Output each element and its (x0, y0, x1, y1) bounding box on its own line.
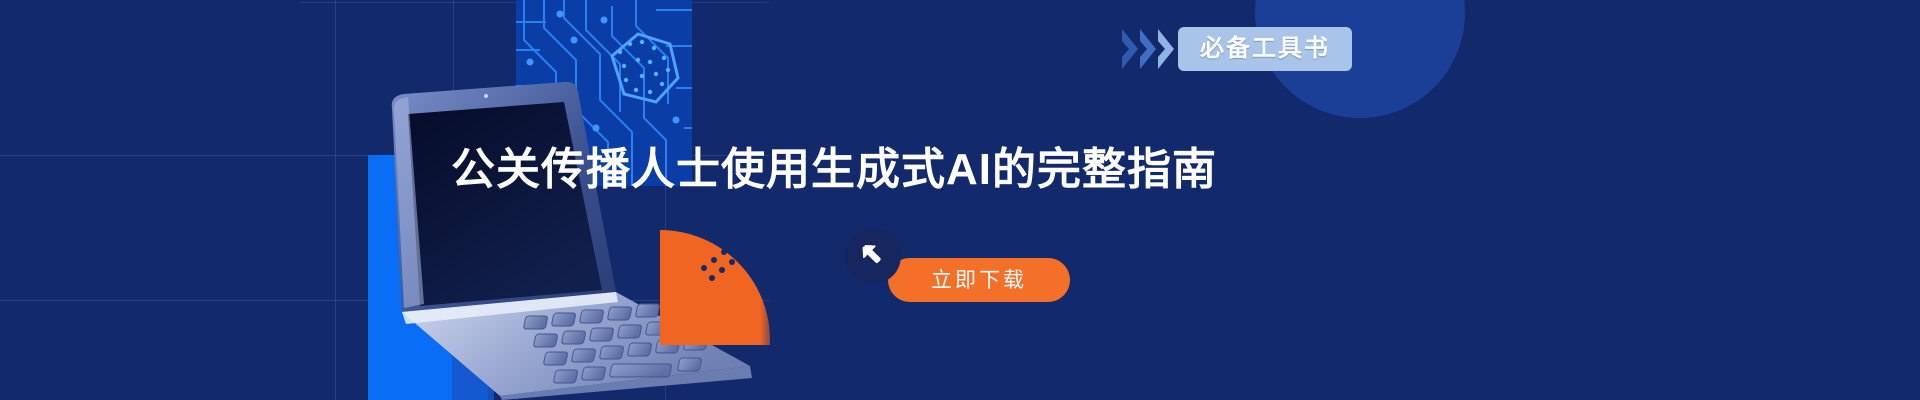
promo-banner: 必备工具书 公关传播人士使用生成式AI的完整指南 立即下载 (0, 0, 1920, 400)
chevron-group (1120, 27, 1174, 71)
download-button-label: 立即下载 (931, 270, 1027, 291)
orange-quarter-circle-accent (660, 230, 770, 345)
feature-badge: 必备工具书 (1120, 27, 1352, 71)
badge-label: 必备工具书 (1200, 37, 1330, 61)
hero-artwork (0, 0, 1920, 400)
chevron-right-icon (1156, 27, 1178, 71)
page-title: 公关传播人士使用生成式AI的完整指南 (451, 146, 1217, 194)
cursor-arrow-icon (845, 228, 901, 284)
download-button[interactable]: 立即下载 (888, 258, 1070, 302)
badge-pill: 必备工具书 (1178, 27, 1352, 71)
